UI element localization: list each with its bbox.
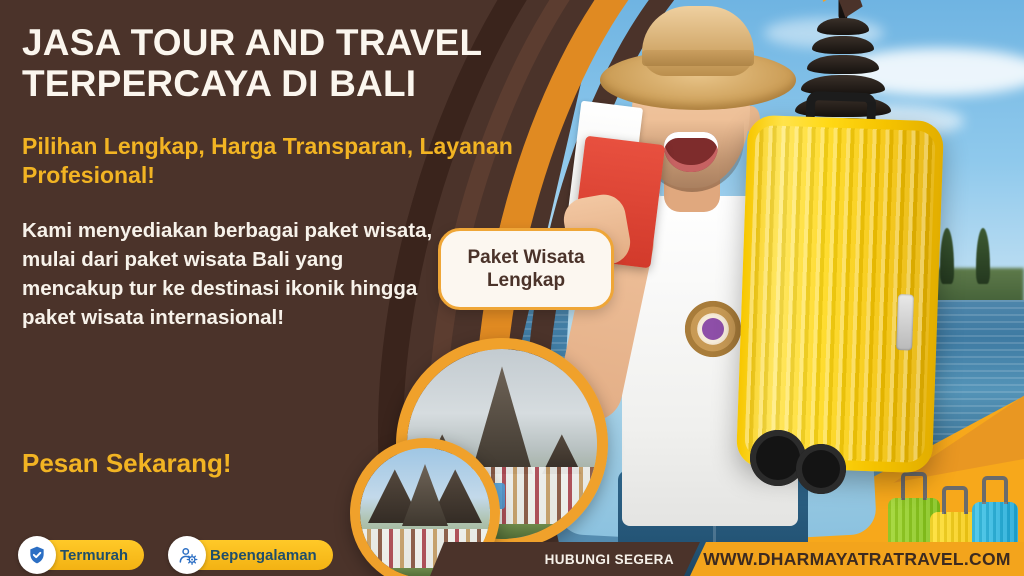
tshirt-logo-center (702, 318, 724, 340)
suitcase-handle (982, 476, 1008, 504)
cta-text[interactable]: Pesan Sekarang! (22, 448, 232, 479)
experience-person-gear-icon (168, 536, 206, 574)
badge-termurah[interactable]: Termurah (26, 540, 144, 570)
suitcase-wheel (796, 444, 846, 494)
shield-check-icon (18, 536, 56, 574)
subheadline: Pilihan Lengkap, Harga Transparan, Layan… (22, 132, 562, 191)
hat-band (642, 50, 754, 66)
suitcase-brand-plate (896, 294, 914, 351)
page-title: JASA TOUR AND TRAVEL TERPERCAYA DI BALI (22, 22, 542, 105)
straw-hat (600, 6, 796, 102)
travel-ad-banner: JASA TOUR AND TRAVEL TERPERCAYA DI BALI … (0, 0, 1024, 576)
badge-label: Bepengalaman (210, 547, 317, 564)
badge-bepengalaman[interactable]: Bepengalaman (176, 540, 333, 570)
badge-label: Termurah (60, 547, 128, 564)
paket-wisata-badge: Paket Wisata Lengkap (438, 228, 614, 310)
yellow-suitcase (736, 115, 944, 474)
suitcase-handle (942, 486, 968, 514)
body-text: Kami menyediakan berbagai paket wisata, … (22, 216, 442, 332)
contact-label-bar: HUBUNGI SEGERA (430, 542, 700, 576)
website-url-bar[interactable]: WWW.DHARMAYATRATRAVEL.COM (690, 542, 1024, 576)
